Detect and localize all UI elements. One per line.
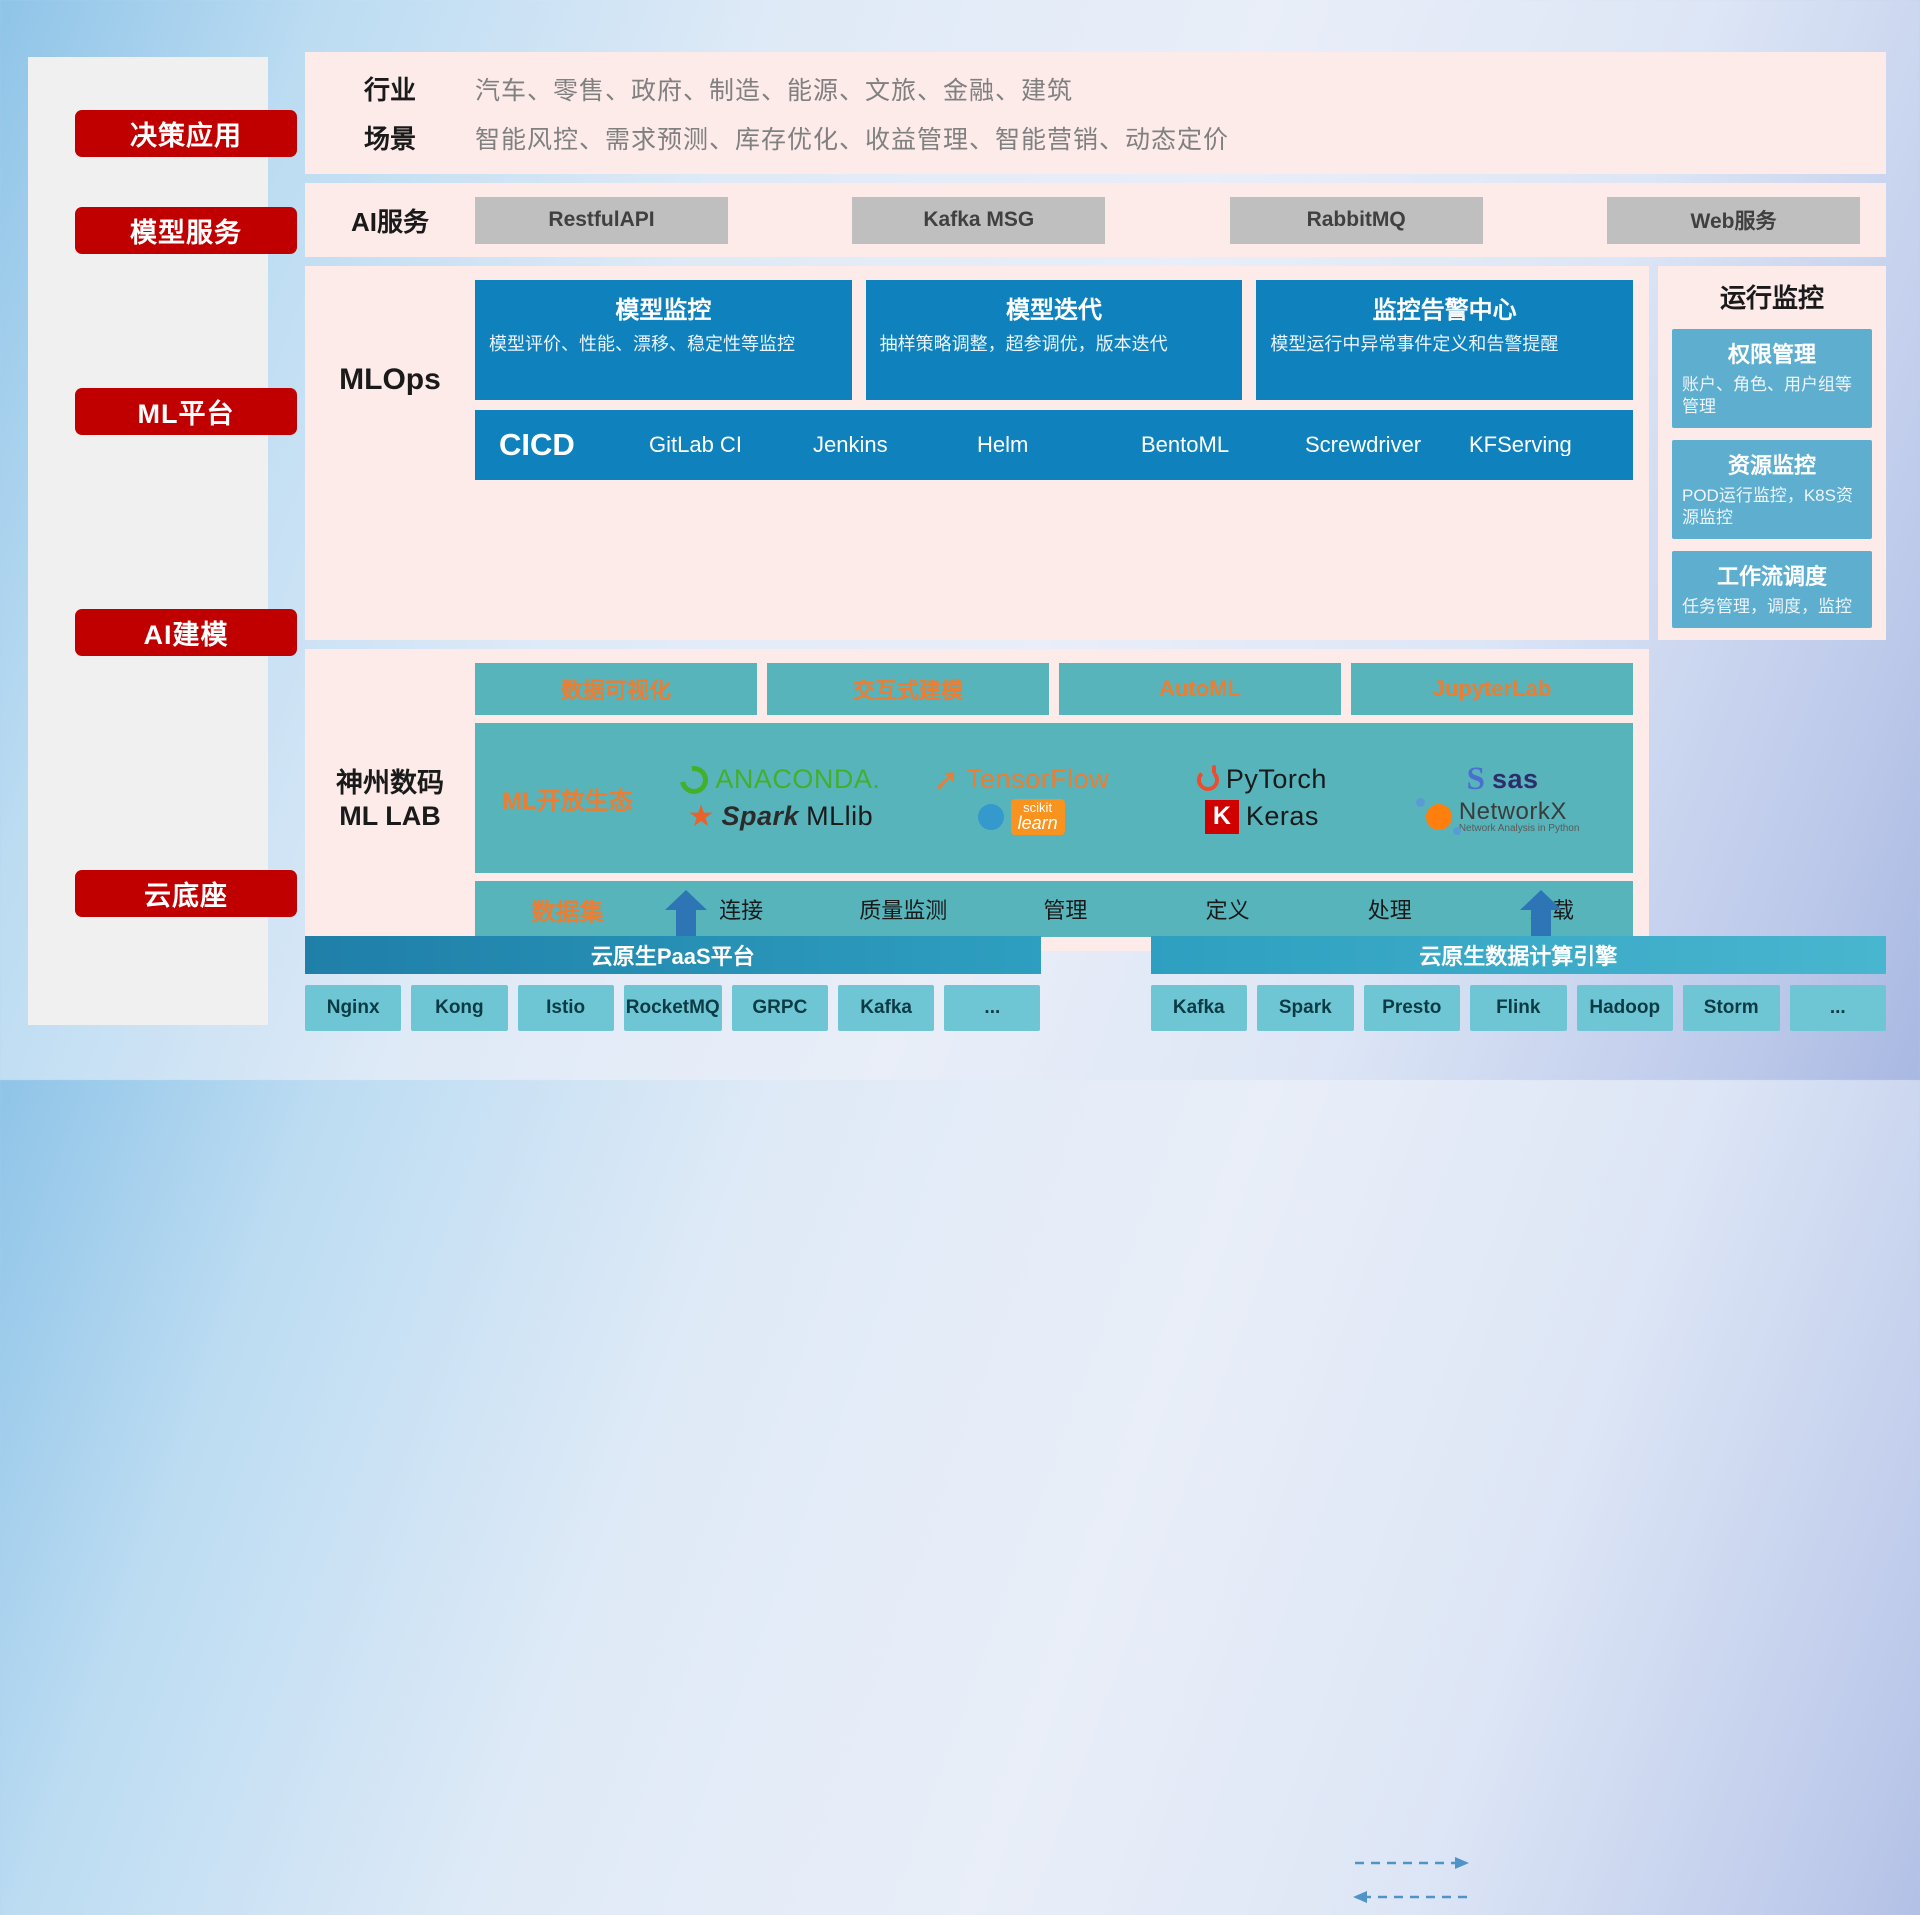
card-desc: 模型评价、性能、漂移、稳定性等监控 xyxy=(489,332,838,356)
anaconda-logo-text: ANACONDA. xyxy=(715,764,880,795)
cicd-item-kfserving[interactable]: KFServing xyxy=(1469,434,1633,456)
ai-service-items: RestfulAPI Kafka MSG RabbitMQ Web服务 xyxy=(475,197,1886,244)
card-desc: POD运行监控，K8S资源监控 xyxy=(1682,485,1862,529)
ai-service-chip-web-service[interactable]: Web服务 xyxy=(1607,197,1860,244)
card-title: 监控告警中心 xyxy=(1270,290,1619,325)
arrow-up-engine xyxy=(1520,890,1562,936)
mlops-band: MLOps 模型监控 模型评价、性能、漂移、稳定性等监控 模型迭代 抽样策略调整… xyxy=(305,266,1649,640)
sidebar-item-ai-modeling[interactable]: AI建模 xyxy=(75,609,297,656)
main-stack: 行业 汽车、零售、政府、制造、能源、文旅、金融、建筑 场景 智能风控、需求预测、… xyxy=(305,52,1886,951)
sidebar-item-label: 决策应用 xyxy=(130,114,242,153)
architecture-diagram: 决策应用 模型服务 ML平台 AI建模 云底座 行业 汽车、零售、政府、制造、能… xyxy=(0,0,1920,1080)
engine-chip-hadoop[interactable]: Hadoop xyxy=(1577,985,1674,1031)
ml-lab-tabs: 数据可视化 交互式建模 AutoML JupyterLab xyxy=(475,663,1633,715)
sidebar-item-ml-platform[interactable]: ML平台 xyxy=(75,388,297,435)
sidebar-item-label: ML平台 xyxy=(138,392,235,431)
paas-chip-grpc[interactable]: GRPC xyxy=(732,985,828,1031)
scenario-row: 场景 智能风控、需求预测、库存优化、收益管理、智能营销、动态定价 xyxy=(305,119,1886,156)
ai-service-band: AI服务 RestfulAPI Kafka MSG RabbitMQ Web服务 xyxy=(305,183,1886,257)
sidebar-item-cloud-base[interactable]: 云底座 xyxy=(75,870,297,917)
engine-chip-storm[interactable]: Storm xyxy=(1683,985,1780,1031)
mllib-logo-text: MLlib xyxy=(806,801,873,832)
card-title: 工作流调度 xyxy=(1682,559,1862,591)
tab-automl[interactable]: AutoML xyxy=(1059,663,1341,715)
sas-logo: S sas xyxy=(1467,761,1539,798)
tensorflow-mark-icon: ➚ xyxy=(933,764,959,795)
paas-chip-kong[interactable]: Kong xyxy=(411,985,507,1031)
cicd-item-helm[interactable]: Helm xyxy=(977,434,1141,456)
monitor-card-permission[interactable]: 权限管理 账户、角色、用户组等管理 xyxy=(1672,329,1872,428)
ml-platform-region: MLOps 模型监控 模型评价、性能、漂移、稳定性等监控 模型迭代 抽样策略调整… xyxy=(305,266,1886,640)
bidirectional-dashed-arrows-icon xyxy=(1351,1845,1471,1915)
keras-k: K xyxy=(1213,802,1231,831)
scenario-label: 场景 xyxy=(305,119,475,156)
sidebar-item-label: 云底座 xyxy=(144,874,228,913)
tensorflow-logo: ➚ TensorFlow xyxy=(933,764,1109,795)
engine-chip-kafka[interactable]: Kafka xyxy=(1151,985,1248,1031)
networkx-tagline: Network Analysis in Python xyxy=(1459,824,1580,835)
ai-service-chip-rabbitmq[interactable]: RabbitMQ xyxy=(1230,197,1483,244)
tensorflow-logo-text: TensorFlow xyxy=(966,764,1109,795)
industry-values: 汽车、零售、政府、制造、能源、文旅、金融、建筑 xyxy=(475,71,1073,107)
industry-label: 行业 xyxy=(305,70,475,107)
spark-mllib-logo: ★ Spark MLlib xyxy=(688,801,873,832)
sidebar-item-decision-application[interactable]: 决策应用 xyxy=(75,110,297,157)
anaconda-ring-icon xyxy=(675,760,714,799)
card-desc: 抽样策略调整，超参调优，版本迭代 xyxy=(880,332,1229,356)
pytorch-logo-text: PyTorch xyxy=(1226,764,1327,795)
mlops-card-model-monitoring[interactable]: 模型监控 模型评价、性能、漂移、稳定性等监控 xyxy=(475,280,852,400)
mlops-card-row: 模型监控 模型评价、性能、漂移、稳定性等监控 模型迭代 抽样策略调整，超参调优，… xyxy=(475,280,1633,400)
cicd-item-jenkins[interactable]: Jenkins xyxy=(813,434,977,456)
pytorch-logo: PyTorch xyxy=(1197,764,1327,795)
runtime-monitor-panel: 运行监控 权限管理 账户、角色、用户组等管理 资源监控 POD运行监控，K8S资… xyxy=(1658,266,1886,640)
cicd-bar: CICD GitLab CI Jenkins Helm BentoML Scre… xyxy=(475,410,1633,480)
engine-chip-presto[interactable]: Presto xyxy=(1364,985,1461,1031)
industry-row: 行业 汽车、零售、政府、制造、能源、文旅、金融、建筑 xyxy=(305,70,1886,107)
scikit-badge: scikit learn xyxy=(1011,799,1065,836)
card-title: 模型迭代 xyxy=(880,290,1229,325)
sidebar-item-label: AI建模 xyxy=(144,613,229,652)
tab-data-visualization[interactable]: 数据可视化 xyxy=(475,663,757,715)
paas-title: 云原生PaaS平台 xyxy=(305,936,1041,974)
engine-chip-spark[interactable]: Spark xyxy=(1257,985,1354,1031)
arrow-up-paas xyxy=(665,890,707,936)
scenario-values: 智能风控、需求预测、库存优化、收益管理、智能营销、动态定价 xyxy=(475,120,1229,156)
card-title: 权限管理 xyxy=(1682,337,1862,369)
card-desc: 账户、角色、用户组等管理 xyxy=(1682,374,1862,418)
monitor-card-workflow[interactable]: 工作流调度 任务管理，调度，监控 xyxy=(1672,551,1872,628)
keras-logo-text: Keras xyxy=(1246,801,1319,832)
tab-interactive-modeling[interactable]: 交互式建模 xyxy=(767,663,1049,715)
networkx-logo: NetworkX Network Analysis in Python xyxy=(1426,799,1580,835)
ml-ecosystem-row: ML开放生态 ANACONDA. ➚ TensorFlow xyxy=(475,723,1633,873)
card-title: 资源监控 xyxy=(1682,448,1862,480)
sas-logo-text: sas xyxy=(1492,764,1539,795)
scikit-learn-logo: scikit learn xyxy=(978,799,1065,836)
cicd-item-gitlab-ci[interactable]: GitLab CI xyxy=(649,434,813,456)
spark-star-icon: ★ xyxy=(688,802,715,832)
card-title: 模型监控 xyxy=(489,290,838,325)
ai-service-label: AI服务 xyxy=(305,202,475,239)
cicd-item-bentoml[interactable]: BentoML xyxy=(1141,434,1305,456)
ai-service-chip-kafka-msg[interactable]: Kafka MSG xyxy=(852,197,1105,244)
sidebar-item-model-service[interactable]: 模型服务 xyxy=(75,207,297,254)
networkx-logo-text: NetworkX xyxy=(1459,799,1580,824)
cicd-label: CICD xyxy=(499,427,649,463)
ml-ecosystem-label: ML开放生态 xyxy=(475,781,660,816)
monitor-card-resource[interactable]: 资源监控 POD运行监控，K8S资源监控 xyxy=(1672,440,1872,539)
engine-title: 云原生数据计算引擎 xyxy=(1151,936,1887,974)
card-desc: 任务管理，调度，监控 xyxy=(1682,596,1862,618)
sas-s-icon: S xyxy=(1467,761,1485,798)
engine-chip-flink[interactable]: Flink xyxy=(1470,985,1567,1031)
paas-chip-more[interactable]: ... xyxy=(944,985,1040,1031)
paas-chip-rocketmq[interactable]: RocketMQ xyxy=(624,985,722,1031)
keras-logo: K Keras xyxy=(1205,800,1319,834)
scikit-blob-icon xyxy=(978,804,1004,830)
runtime-monitor-title: 运行监控 xyxy=(1672,278,1872,315)
tab-jupyterlab[interactable]: JupyterLab xyxy=(1351,663,1633,715)
paas-chip-nginx[interactable]: Nginx xyxy=(305,985,401,1031)
cicd-item-screwdriver[interactable]: Screwdriver xyxy=(1305,434,1469,456)
engine-chip-more[interactable]: ... xyxy=(1790,985,1887,1031)
application-layer-band: 行业 汽车、零售、政府、制造、能源、文旅、金融、建筑 场景 智能风控、需求预测、… xyxy=(305,52,1886,174)
anaconda-logo: ANACONDA. xyxy=(680,764,880,795)
ml-lab-label-line1: 神州数码 xyxy=(336,767,444,801)
mlops-card-model-iteration[interactable]: 模型迭代 抽样策略调整，超参调优，版本迭代 xyxy=(866,280,1243,400)
pytorch-flame-icon xyxy=(1197,769,1219,791)
layer-rail: 决策应用 模型服务 ML平台 AI建模 云底座 xyxy=(28,57,268,1025)
paas-chip-istio[interactable]: Istio xyxy=(518,985,614,1031)
networkx-graph-icon xyxy=(1426,804,1452,830)
paas-chip-kafka[interactable]: Kafka xyxy=(838,985,934,1031)
ml-lab-label-line2: ML LAB xyxy=(339,800,441,834)
keras-mark-icon: K xyxy=(1205,800,1239,834)
spark-logo-text: Spark xyxy=(722,801,800,832)
mlops-label: MLOps xyxy=(305,280,475,480)
mlops-card-alert-center[interactable]: 监控告警中心 模型运行中异常事件定义和告警提醒 xyxy=(1256,280,1633,400)
cloud-base-region: 云原生PaaS平台 Nginx Kong Istio RocketMQ GRPC… xyxy=(305,890,1886,1040)
engine-column: 云原生数据计算引擎 Kafka Spark Presto Flink Hadoo… xyxy=(1151,936,1887,1031)
paas-column: 云原生PaaS平台 Nginx Kong Istio RocketMQ GRPC… xyxy=(305,936,1041,1031)
card-desc: 模型运行中异常事件定义和告警提醒 xyxy=(1270,332,1619,356)
ai-service-chip-restfulapi[interactable]: RestfulAPI xyxy=(475,197,728,244)
scikit-badge-learn: learn xyxy=(1018,813,1058,833)
sidebar-item-label: 模型服务 xyxy=(130,211,242,250)
